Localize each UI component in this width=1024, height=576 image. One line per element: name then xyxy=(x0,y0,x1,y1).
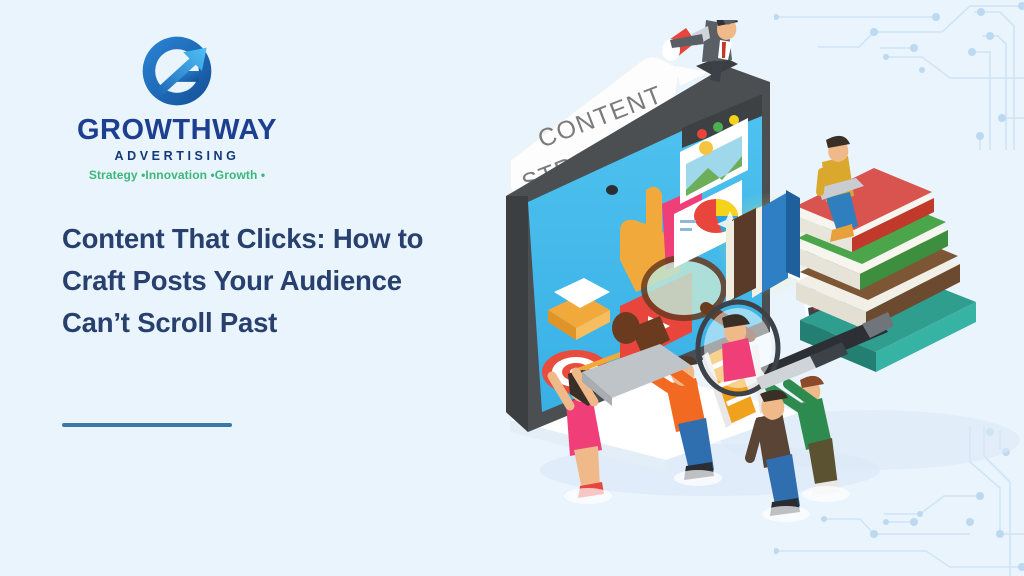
banner-canvas: GROWTHWAY ADVERTISING Strategy •Innovati… xyxy=(0,0,1024,576)
title-divider xyxy=(62,423,232,427)
brand-name: GROWTHWAY xyxy=(62,116,292,145)
brand-tagline: Strategy •Innovation •Growth • xyxy=(62,168,292,182)
growthway-g-arrow-mark-icon xyxy=(138,32,216,110)
left-content-column: GROWTHWAY ADVERTISING Strategy •Innovati… xyxy=(0,0,470,576)
page-title: Content That Clicks: How to Craft Posts … xyxy=(62,218,442,343)
content-strategy-isometric-illustration: CONTENT STRATEGY xyxy=(470,20,1024,540)
brand-subtitle: ADVERTISING xyxy=(62,149,292,163)
brand-logo[interactable]: GROWTHWAY ADVERTISING Strategy •Innovati… xyxy=(62,32,292,182)
